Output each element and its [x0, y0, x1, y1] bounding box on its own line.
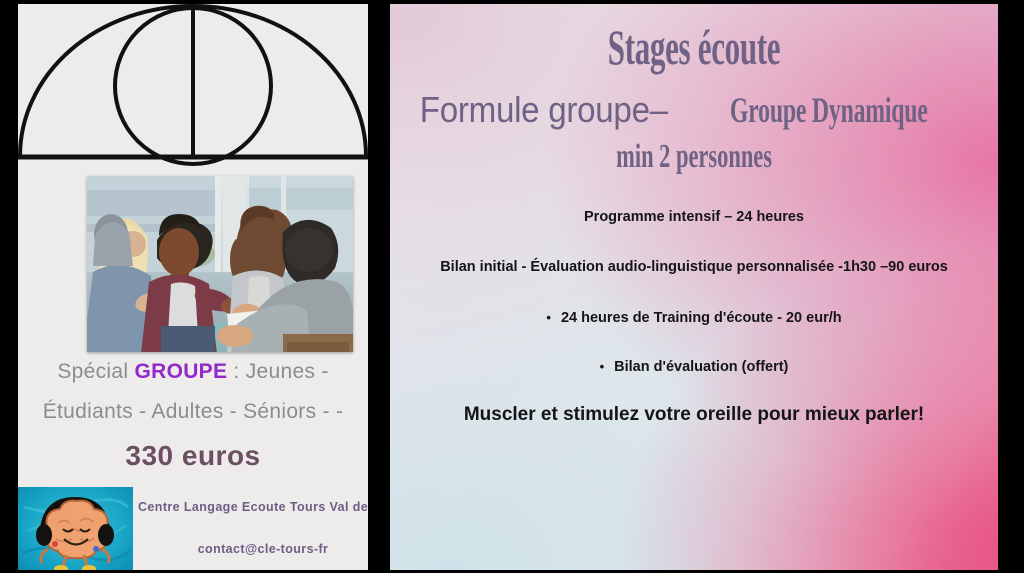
tagline-prefix: Spécial: [57, 360, 134, 383]
brand-name: Centre Langage Ecoute Tours Val de Loire: [138, 500, 368, 514]
program-line: Programme intensif – 24 heures: [390, 209, 998, 225]
presentation-slide: Spécial GROUPE : Jeunes - Étudiants - Ad…: [0, 0, 1024, 573]
bullet-text: 24 heures de Training d'écoute - 20 eur/…: [561, 310, 842, 326]
subtitle-serif: Groupe Dynamique: [730, 89, 928, 131]
letterbox-left: [0, 0, 18, 573]
bullet-item-training: •24 heures de Training d'écoute - 20 eur…: [390, 310, 998, 326]
bullet-item-evaluation: •Bilan d'évaluation (offert): [390, 359, 998, 375]
page-title: Stages écoute: [506, 18, 883, 76]
closing-statement: Muscler et stimulez votre oreille pour m…: [390, 404, 998, 426]
circle-arc-logo: [18, 4, 368, 169]
subtitle-line: Formule groupe– Groupe Dynamique: [390, 89, 998, 131]
brain-headphones-logo: [18, 487, 133, 570]
subtitle-line-3-text: min 2 personnes: [616, 138, 772, 176]
left-panel: Spécial GROUPE : Jeunes - Étudiants - Ad…: [18, 4, 368, 570]
letterbox-middle: [368, 0, 390, 573]
tagline-line-1: Spécial GROUPE : Jeunes -: [18, 360, 368, 384]
initial-assessment-line: Bilan initial - Évaluation audio-linguis…: [390, 259, 998, 275]
bullet-marker: •: [600, 359, 605, 374]
right-panel: Stages écoute Formule groupe– Groupe Dyn…: [390, 4, 998, 570]
bullet-marker: •: [546, 310, 551, 325]
subtitle-sans: Formule groupe–: [420, 89, 668, 131]
tagline-highlight: GROUPE: [134, 360, 227, 383]
group-discussion-photo: [87, 176, 353, 352]
subtitle-line-3: min 2 personnes: [390, 138, 998, 176]
letterbox-top: [0, 0, 1024, 4]
price-label: 330 euros: [18, 440, 368, 472]
contact-email: contact@cle-tours-fr: [138, 542, 368, 556]
tagline-line-2: Étudiants - Adultes - Séniors - -: [18, 400, 368, 424]
tagline-suffix: : Jeunes -: [227, 360, 328, 383]
letterbox-right: [998, 0, 1024, 573]
bullet-text: Bilan d'évaluation (offert): [614, 359, 788, 375]
